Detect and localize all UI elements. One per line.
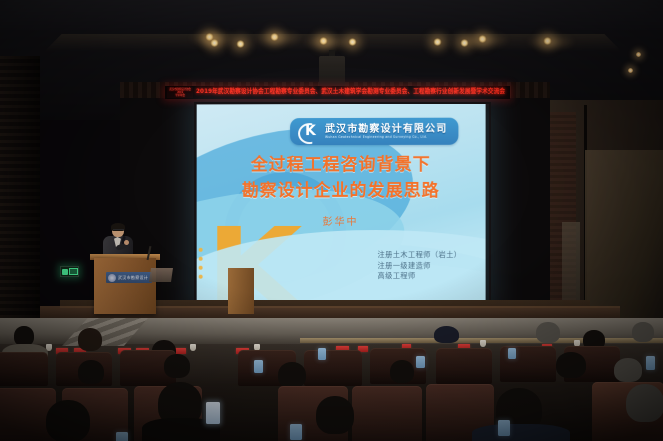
ceiling-lamp <box>236 40 245 48</box>
slide-title-line2: 勘察设计企业的发展思路 <box>197 178 486 204</box>
led-banner-tag: 武汉市勘察设计协会 2019 学术年会 <box>167 87 193 98</box>
ceiling-lamp-glow <box>528 34 574 50</box>
exit-door-icon <box>69 268 78 275</box>
led-scrolling-banner: 武汉市勘察设计协会 2019 学术年会 2019年武汉勘察设计协会工程勘察专业委… <box>165 86 510 99</box>
logo-letter: K <box>305 124 316 138</box>
podium-logo-icon <box>108 274 116 282</box>
ceiling-lamp <box>433 38 442 46</box>
audience-head <box>390 360 414 383</box>
audience-head <box>14 326 34 346</box>
audience-head <box>78 360 104 384</box>
slide-dot-decoration <box>199 248 205 284</box>
ceiling-lamp <box>210 39 219 47</box>
audience-head-with-cap <box>434 326 459 343</box>
audience-head <box>278 362 306 388</box>
presenter-hand <box>124 240 129 245</box>
slide-title-line1: 全过程工程咨询背景下 <box>197 152 486 178</box>
slide-title: 全过程工程咨询背景下 勘察设计企业的发展思路 <box>197 152 486 204</box>
slide-presenter-name: 彭华中 <box>197 216 486 230</box>
side-accent-light <box>628 68 633 73</box>
stage-side-table <box>228 268 254 314</box>
laptop-on-stage <box>149 268 173 282</box>
running-man-icon <box>62 269 68 275</box>
auditorium-photo-scene: 武汉市勘察设计协会 2019 学术年会 2019年武汉勘察设计协会工程勘察专业委… <box>0 0 663 441</box>
audience-head <box>614 358 642 382</box>
audience-head <box>316 396 354 434</box>
audience-head <box>626 384 663 422</box>
ceiling-lamp-glow <box>255 30 301 46</box>
led-banner-text: 2019年武汉勘察设计协会工程勘察专业委员会、武汉土木建筑学会勘测专业委员会、工… <box>193 86 510 99</box>
podium-sign-text: 武汉市勘察设计 <box>118 275 148 280</box>
credential-item: 注册一级建造师 <box>378 261 462 272</box>
ceiling-vent-strip <box>0 0 663 30</box>
slide-credentials: 注册土木工程师（岩土） 注册一级建造师 高级工程师 <box>378 250 462 282</box>
attendee-phone-screen <box>290 424 302 440</box>
ceiling-lamp-glow <box>304 34 350 50</box>
emergency-exit-sign <box>60 266 79 277</box>
presenter-glasses <box>113 229 124 233</box>
audience-head <box>556 352 586 378</box>
side-accent-light <box>636 52 641 57</box>
audience-head <box>78 328 102 351</box>
audience-shoulders <box>472 424 570 441</box>
attendee-phone-screen <box>416 356 425 368</box>
theater-seat <box>304 350 362 386</box>
attendee-phone-screen <box>646 356 655 370</box>
company-logo-icon: K <box>298 122 320 141</box>
company-logo-bar: K 武汉市勘察设计有限公司 Wuhan Geotechnical Enginee… <box>290 118 458 145</box>
company-name-cn: 武汉市勘察设计有限公司 <box>325 123 447 134</box>
paper-cup <box>480 340 486 347</box>
podium-nameplate: 武汉市勘察设计 <box>106 272 152 283</box>
audience-head <box>164 354 190 378</box>
paper-cup <box>190 344 196 351</box>
attendee-phone-screen <box>254 360 263 373</box>
attendee-phone-screen <box>206 402 220 424</box>
credential-item: 高级工程师 <box>378 271 462 282</box>
credential-item: 注册土木工程师（岩土） <box>378 250 462 261</box>
theater-seat <box>352 386 422 441</box>
attendee-phone-screen <box>498 420 510 436</box>
audience-head <box>632 322 654 342</box>
ceiling-lamp-glow <box>462 32 508 48</box>
audience-head <box>46 400 90 441</box>
company-name-en: Wuhan Geotechnical Engineering and Surve… <box>325 134 447 139</box>
theater-seat <box>436 348 492 384</box>
theater-seat <box>0 352 48 386</box>
attendee-phone-screen <box>116 432 128 441</box>
attendee-phone-screen <box>508 348 516 359</box>
left-wall-shadow <box>0 56 40 326</box>
podium <box>94 258 156 314</box>
ceiling-lamp <box>460 39 469 47</box>
led-tag-line3: 学术年会 <box>175 94 185 97</box>
right-wall-panel <box>585 150 663 330</box>
audience-head <box>536 322 560 343</box>
attendee-phone-screen <box>318 348 326 360</box>
